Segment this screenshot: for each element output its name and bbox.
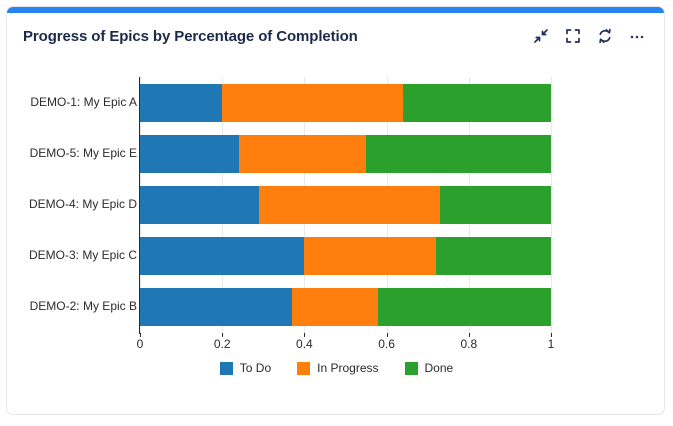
bar-segment-in-progress[interactable] [259,186,440,224]
legend-label: To Do [240,361,271,375]
bar-segment-to-do[interactable] [140,186,259,224]
y-axis-tick-label: DEMO-4: My Epic D [11,197,137,211]
more-options-icon[interactable] [628,27,646,45]
x-axis-labels: 00.20.40.60.81 [140,337,551,355]
bars-container [140,77,551,333]
y-axis-tick-label: DEMO-2: My Epic B [11,299,137,313]
bar-segment-done[interactable] [403,84,551,122]
legend-label: Done [425,361,454,375]
bar-segment-in-progress[interactable] [292,288,378,326]
bar-segment-in-progress[interactable] [222,84,403,122]
bar-segment-done[interactable] [366,135,551,173]
bar-segment-in-progress[interactable] [239,135,366,173]
x-axis-tick-label: 0 [137,337,144,351]
bar-segment-to-do[interactable] [140,288,292,326]
x-axis-tick-label: 0.4 [296,337,313,351]
legend-swatch [405,362,418,375]
bar-segment-done[interactable] [378,288,551,326]
bar-segment-to-do[interactable] [140,135,239,173]
legend-label: In Progress [317,361,378,375]
y-axis-tick-label: DEMO-3: My Epic C [11,248,137,262]
chart-card: Progress of Epics by Percentage of Compl… [6,6,665,415]
bar-segment-in-progress[interactable] [304,237,436,275]
x-axis-tick-label: 1 [548,337,555,351]
refresh-icon[interactable] [596,27,614,45]
bar-segment-done[interactable] [440,186,551,224]
legend-item-done[interactable]: Done [405,361,454,375]
chart-plot-area: DEMO-1: My Epic ADEMO-5: My Epic EDEMO-4… [7,59,665,415]
gridline [551,77,552,333]
chart-legend: To DoIn ProgressDone [7,361,665,375]
fullscreen-icon[interactable] [564,27,582,45]
bar-row [140,84,551,122]
y-axis-tick-label: DEMO-5: My Epic E [11,146,137,160]
bar-row [140,288,551,326]
x-axis-tick-label: 0.6 [378,337,395,351]
bar-segment-done[interactable] [436,237,551,275]
card-header: Progress of Epics by Percentage of Compl… [7,13,664,59]
legend-swatch [297,362,310,375]
bar-row [140,135,551,173]
legend-item-in-progress[interactable]: In Progress [297,361,378,375]
collapse-icon[interactable] [532,27,550,45]
bar-row [140,186,551,224]
bar-segment-to-do[interactable] [140,84,222,122]
y-axis-tick-label: DEMO-1: My Epic A [11,95,137,109]
x-axis-tick-label: 0.2 [214,337,231,351]
x-axis-tick-label: 0.8 [460,337,477,351]
bar-row [140,237,551,275]
header-actions [532,27,646,45]
legend-swatch [220,362,233,375]
y-axis-labels: DEMO-1: My Epic ADEMO-5: My Epic EDEMO-4… [7,77,137,333]
page-title: Progress of Epics by Percentage of Compl… [23,28,358,45]
bar-segment-to-do[interactable] [140,237,304,275]
legend-item-to-do[interactable]: To Do [220,361,271,375]
